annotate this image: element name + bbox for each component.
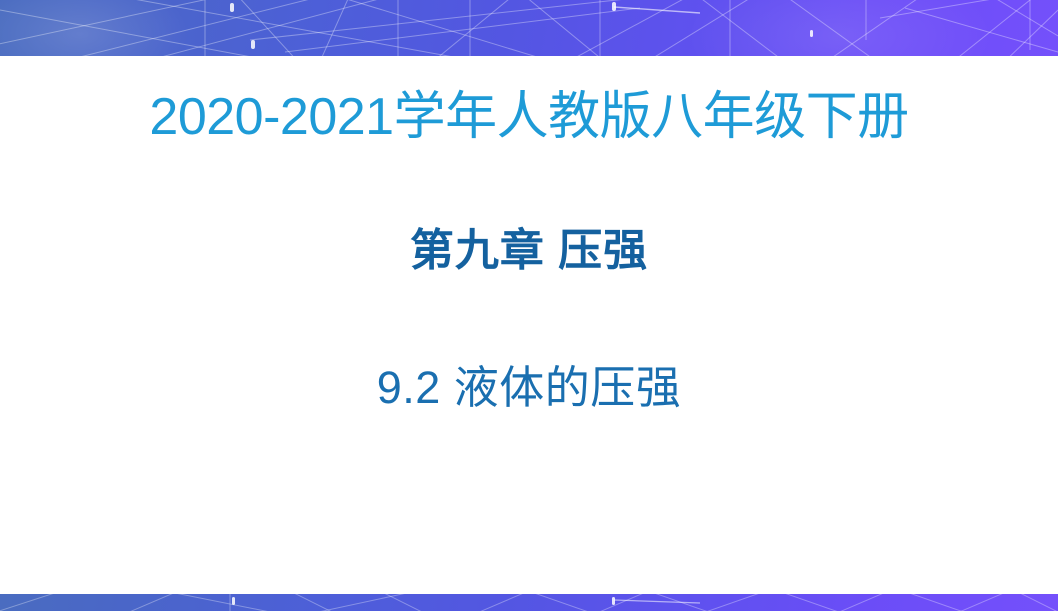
banner-line-network-icon [0, 594, 1058, 611]
chapter-title: 第九章 压强 [0, 223, 1058, 279]
bottom-gradient-banner [0, 594, 1058, 611]
course-title: 2020-2021学年人教版八年级下册 [0, 86, 1058, 148]
section-title: 9.2 液体的压强 [0, 359, 1058, 417]
slide-text-block: 2020-2021学年人教版八年级下册 第九章 压强 9.2 液体的压强 [0, 56, 1058, 594]
presentation-slide: 2020-2021学年人教版八年级下册 第九章 压强 9.2 液体的压强 [0, 0, 1058, 611]
top-gradient-banner [0, 0, 1058, 56]
banner-line-network-icon [0, 0, 1058, 56]
